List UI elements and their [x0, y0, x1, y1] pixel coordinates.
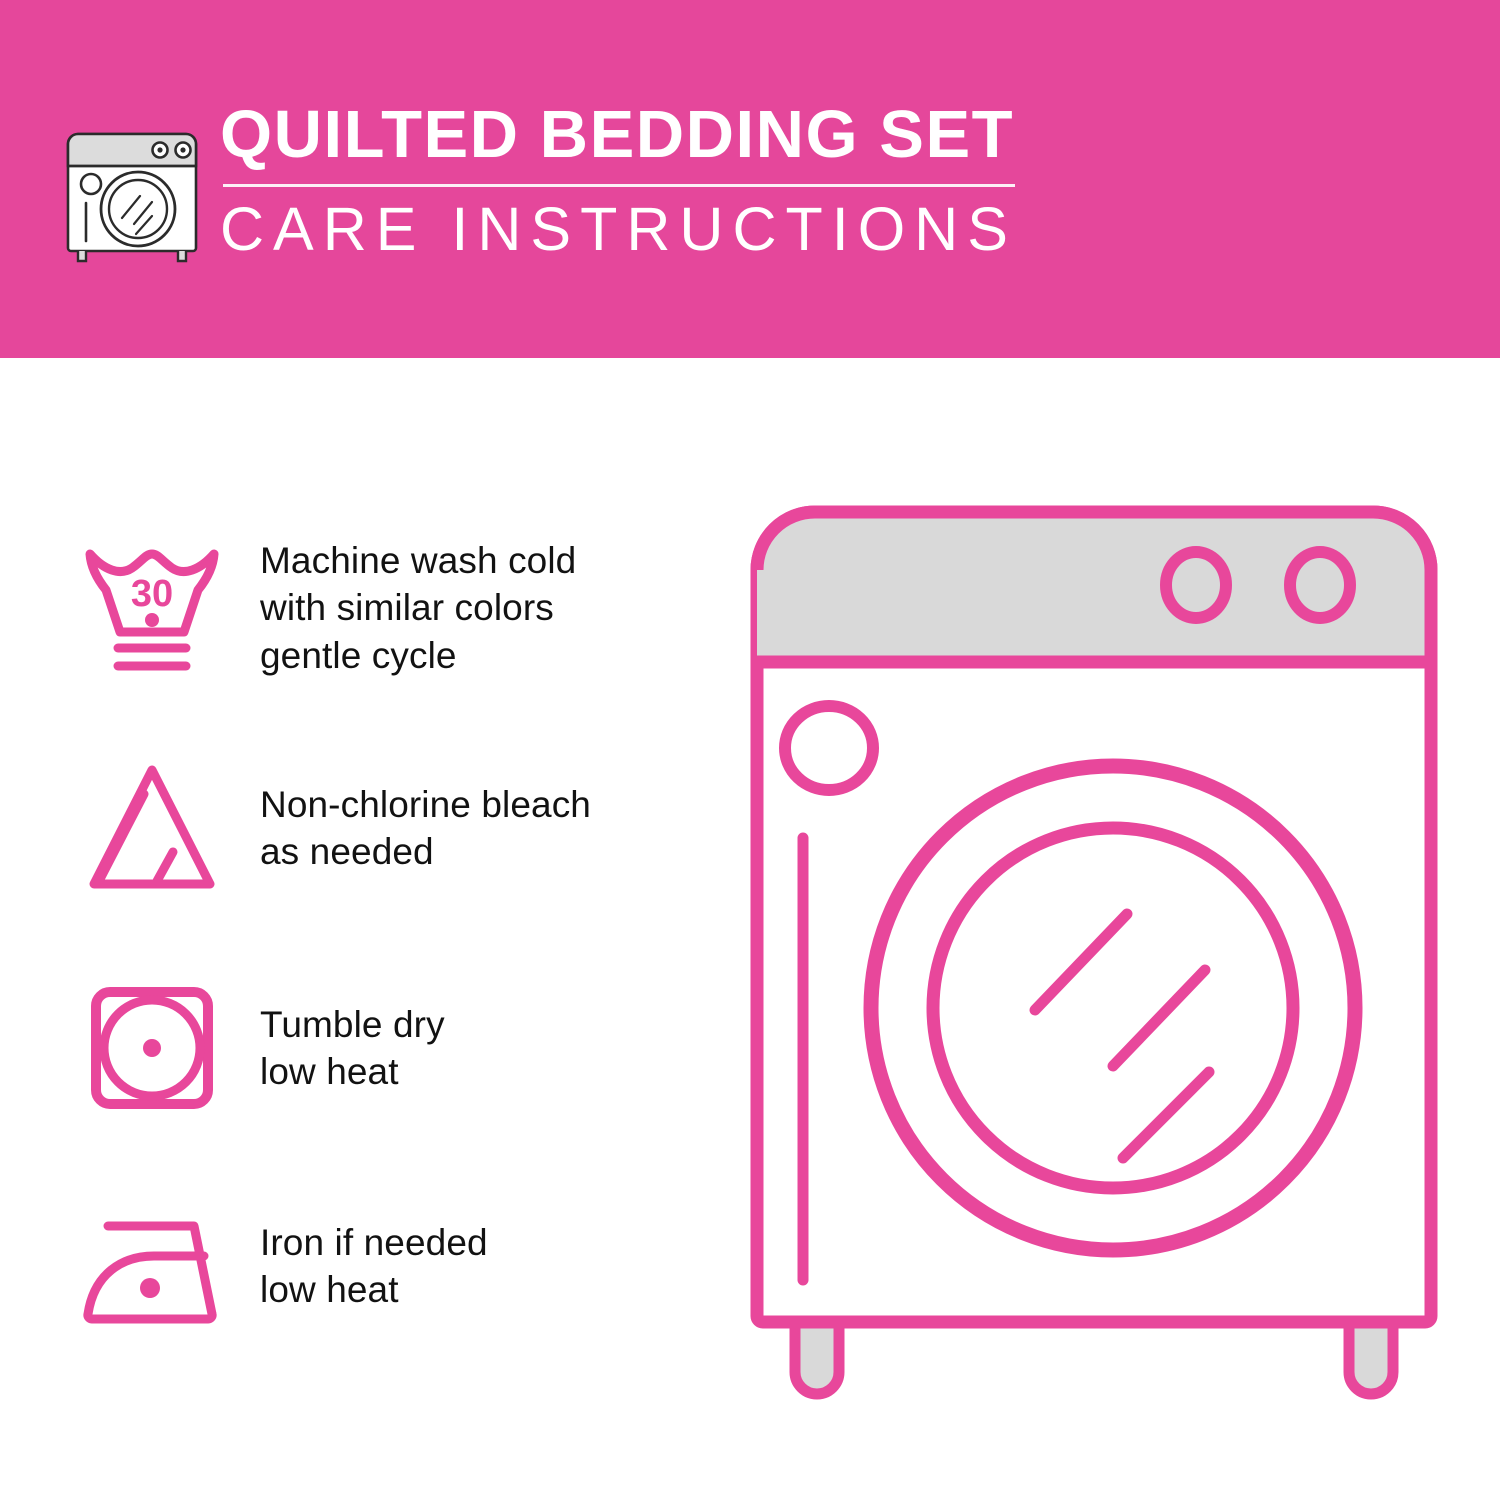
page-header: QUILTED BEDDING SET CARE INSTRUCTIONS	[0, 0, 1500, 358]
non-chlorine-bleach-triangle-icon	[72, 748, 232, 908]
title-divider	[223, 184, 1015, 187]
washing-machine-illustration	[735, 490, 1455, 1440]
care-item-machine-wash: 30 Machine wash cold with similar colors…	[72, 528, 712, 688]
wash-temperature-value: 30	[131, 573, 173, 615]
page-title: QUILTED BEDDING SET	[220, 100, 1017, 170]
care-symbol-list: 30 Machine wash cold with similar colors…	[0, 358, 740, 1500]
care-instructions-page: QUILTED BEDDING SET CARE INSTRUCTIONS 30…	[0, 0, 1500, 1500]
care-item-label: Iron if needed low heat	[260, 1219, 488, 1314]
page-subtitle: CARE INSTRUCTIONS	[220, 197, 1017, 261]
header-title-block: QUILTED BEDDING SET CARE INSTRUCTIONS	[220, 100, 1017, 261]
tumble-dry-low-icon	[72, 968, 232, 1128]
care-item-label: Tumble dry low heat	[260, 1001, 445, 1096]
iron-low-heat-icon	[72, 1186, 232, 1346]
care-item-iron: Iron if needed low heat	[72, 1186, 712, 1346]
care-item-tumble-dry: Tumble dry low heat	[72, 968, 712, 1128]
header-content: QUILTED BEDDING SET CARE INSTRUCTIONS	[62, 100, 1017, 268]
care-item-label: Machine wash cold with similar colors ge…	[260, 537, 576, 679]
care-item-bleach: Non-chlorine bleach as needed	[72, 748, 712, 908]
wash-tub-30-gentle-icon: 30	[72, 528, 232, 688]
washing-machine-icon	[62, 108, 202, 268]
control-panel	[757, 512, 1431, 662]
washing-machine-graphic	[735, 490, 1455, 1440]
care-item-label: Non-chlorine bleach as needed	[260, 781, 591, 876]
